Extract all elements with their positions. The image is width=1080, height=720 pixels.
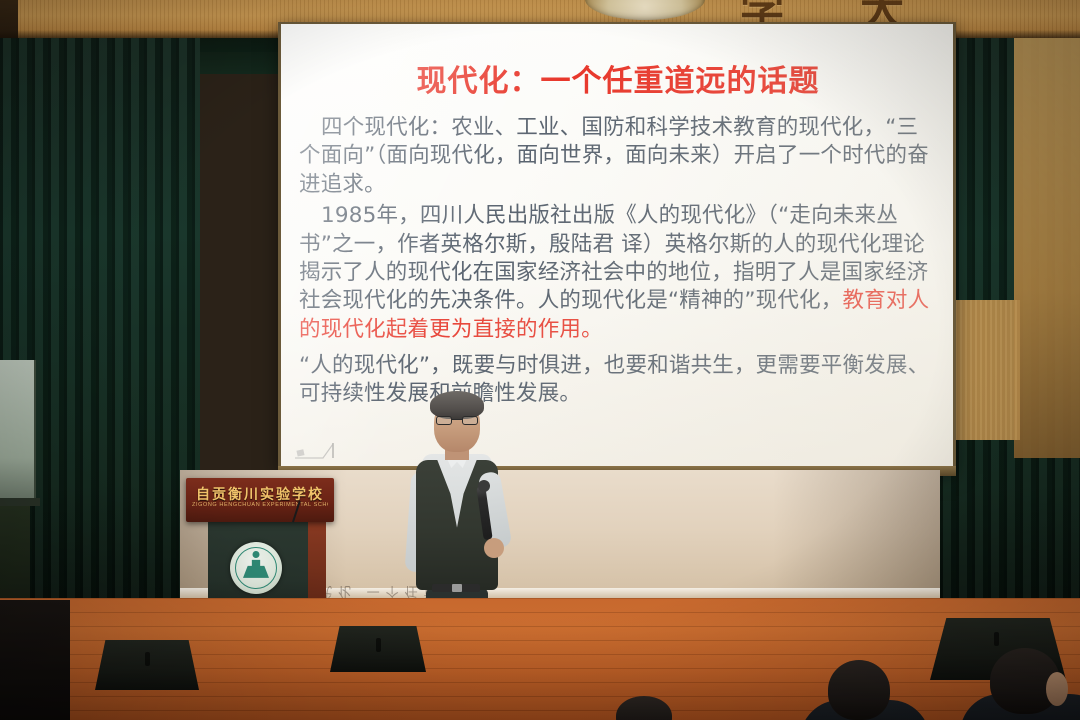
wood-panel-right — [1014, 38, 1080, 458]
speaker-hair — [430, 391, 484, 419]
curtain-left — [0, 38, 200, 598]
podium-name-en: ZIGONG HENGCHUAN EXPERIMENTAL SCHOOL — [192, 502, 328, 508]
slide-paragraph-1: 四个现代化：农业、工业、国防和科学技术教育的现代化，“三个面向”（面向现代化，面… — [299, 114, 937, 199]
slide-p1-text: 四个现代化：农业、工业、国防和科学技术教育的现代化，“三个面向”（面向现代化，面… — [299, 115, 929, 197]
slide-watermark-logo-icon — [293, 440, 339, 462]
stage-monitor-3 — [95, 640, 199, 690]
audience-head-1 — [828, 660, 890, 720]
stage-monitor-1 — [330, 626, 426, 672]
presentation-slide: 现代化：一个任重道远的话题 四个现代化：农业、工业、国防和科学技术教育的现代化，… — [281, 24, 953, 468]
foreground-left-object — [0, 600, 70, 720]
speaker-hand — [484, 538, 504, 558]
podium-school-emblem-icon — [230, 542, 282, 594]
podium-name-cn: 自贡衡川实验学校 — [196, 484, 324, 504]
slide-p2-text: 1985年，四川人民出版社出版《人的现代化》（“走向未来丛书”之一，作者英格尔斯… — [299, 203, 928, 313]
speaker-belt-buckle — [452, 584, 462, 592]
audience-ear-2 — [1046, 672, 1068, 706]
microphone-head-icon — [478, 480, 490, 492]
slide-paragraph-2: 1985年，四川人民出版社出版《人的现代化》（“走向未来丛书”之一，作者英格尔斯… — [299, 202, 937, 344]
podium-nameplate: 自贡衡川实验学校 ZIGONG HENGCHUAN EXPERIMENTAL S… — [186, 478, 334, 522]
whiteboard-panel — [0, 360, 36, 500]
whiteboard-tray — [0, 498, 40, 506]
glasses-icon — [436, 416, 478, 425]
slide-body: 四个现代化：农业、工业、国防和科学技术教育的现代化，“三个面向”（面向现代化，面… — [299, 114, 937, 409]
projection-screen: 现代化：一个任重道远的话题 四个现代化：农业、工业、国防和科学技术教育的现代化，… — [281, 24, 953, 468]
slide-title: 现代化：一个任重道远的话题 — [299, 56, 937, 100]
auditorium-photo: 学 大 现代化：一个任重道远的话题 四个现代化：农业、工业、国防和科学技术教育的… — [0, 0, 1080, 720]
